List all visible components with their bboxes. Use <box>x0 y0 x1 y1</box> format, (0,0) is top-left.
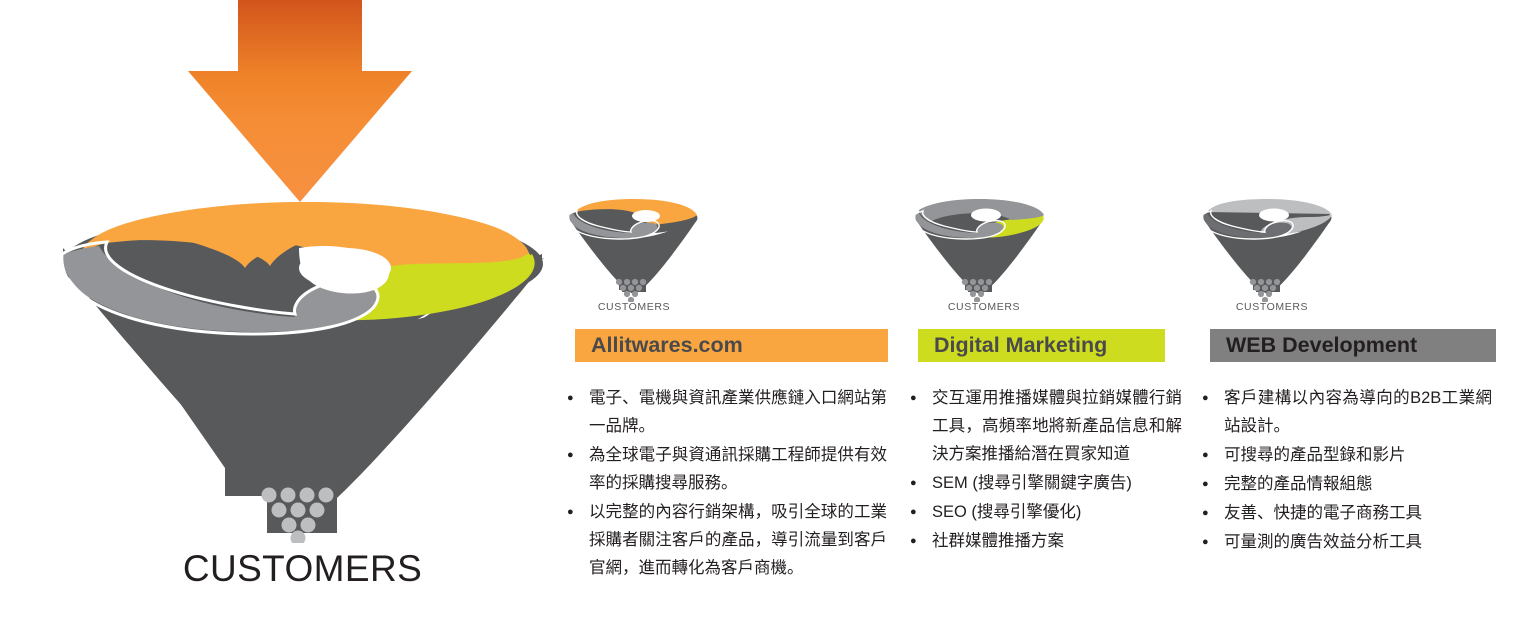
down-arrow-icon <box>150 0 450 207</box>
list-item: 為全球電子與資通訊採購工程師提供有效率的採購搜尋服務。 <box>567 441 887 497</box>
mini-funnel-wrap <box>560 196 890 296</box>
mini-customers-label: CUSTOMERS <box>560 301 708 313</box>
column-allitwares: CUSTOMERS Allitwares.com 電子、電機與資訊產業供應鏈入口… <box>560 196 890 583</box>
bullet-list-digital-marketing: 交互運用推播媒體與拉銷媒體行銷工具，高頻率地將新產品信息和解決方案推播給潛在買家… <box>910 384 1182 555</box>
column-web-development: CUSTOMERS WEB Development 客戶建構以內容為導向的B2B… <box>1190 196 1510 557</box>
list-item: SEM (搜尋引擎關鍵字廣告) <box>910 469 1182 497</box>
mini-funnel-wrap <box>1190 196 1510 296</box>
droplets-icon <box>258 487 340 543</box>
list-item: 交互運用推播媒體與拉銷媒體行銷工具，高頻率地將新產品信息和解決方案推播給潛在買家… <box>910 384 1182 468</box>
header-bar-allitwares: Allitwares.com <box>575 329 888 362</box>
list-item: 社群媒體推播方案 <box>910 527 1182 555</box>
column-digital-marketing: CUSTOMERS Digital Marketing 交互運用推播媒體與拉銷媒… <box>900 196 1190 556</box>
list-item: 可搜尋的產品型錄和影片 <box>1202 441 1492 469</box>
droplets-icon <box>960 278 994 302</box>
list-item: 以完整的內容行銷架構，吸引全球的工業採購者關注客戶的產品，導引流量到客戶官網，進… <box>567 498 887 582</box>
list-item: 友善、快捷的電子商務工具 <box>1202 499 1492 527</box>
bullet-list-web-development: 客戶建構以內容為導向的B2B工業網站設計。 可搜尋的產品型錄和影片 完整的產品情… <box>1202 384 1492 556</box>
header-bar-digital-marketing: Digital Marketing <box>918 329 1165 362</box>
droplets-icon <box>614 278 648 302</box>
list-item: 電子、電機與資訊產業供應鏈入口網站第一品牌。 <box>567 384 887 440</box>
bullet-list-allitwares: 電子、電機與資訊產業供應鏈入口網站第一品牌。 為全球電子與資通訊採購工程師提供有… <box>567 384 887 582</box>
header-bar-web-development: WEB Development <box>1210 329 1496 362</box>
funnel-icon <box>55 196 550 536</box>
main-funnel-group: CUSTOMERS <box>0 0 545 600</box>
mini-funnel-wrap <box>900 196 1190 296</box>
main-customers-label: CUSTOMERS <box>0 548 605 590</box>
list-item: 完整的產品情報組態 <box>1202 470 1492 498</box>
droplets-icon <box>1248 278 1282 302</box>
list-item: SEO (搜尋引擎優化) <box>910 498 1182 526</box>
mini-customers-label: CUSTOMERS <box>1198 301 1346 313</box>
list-item: 可量測的廣告效益分析工具 <box>1202 528 1492 556</box>
list-item: 客戶建構以內容為導向的B2B工業網站設計。 <box>1202 384 1492 440</box>
mini-customers-label: CUSTOMERS <box>910 301 1058 313</box>
